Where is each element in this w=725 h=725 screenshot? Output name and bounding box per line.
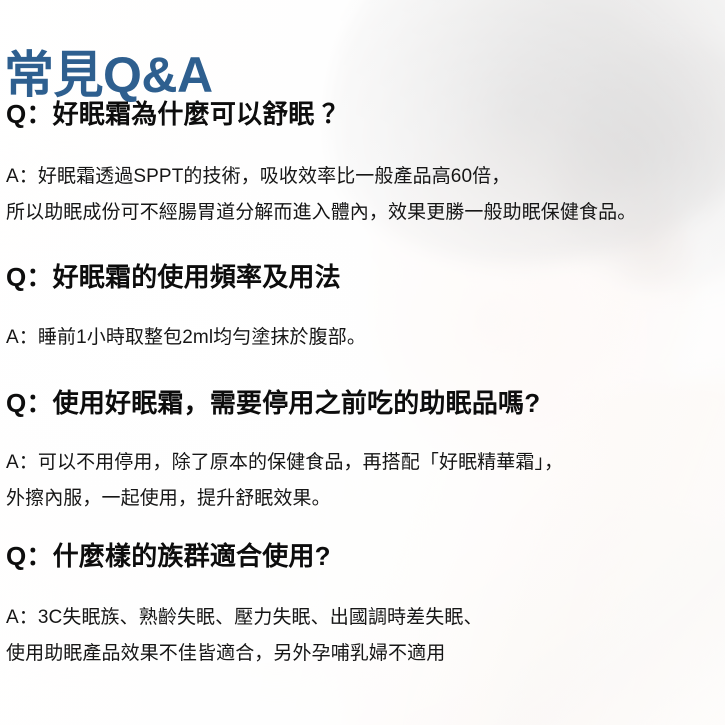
faq-answer-3: A：可以不用停用，除了原本的保健食品，再搭配「好眠精華霜」， 外擦內服，一起使用… <box>6 453 717 508</box>
faq-answer-line: A：好眠霜透過SPPT的技術，吸收效率比一般產品高60倍， <box>6 167 717 186</box>
faq-question-1: Q：好眠霜為什麼可以舒眠 ？ <box>6 99 717 131</box>
faq-answer-1: A：好眠霜透過SPPT的技術，吸收效率比一般產品高60倍， 所以助眠成份可不經腸… <box>6 167 717 222</box>
faq-answer-line: 使用助眠產品效果不佳皆適合，另外孕哺乳婦不適用 <box>6 644 717 663</box>
faq-item-1: Q：好眠霜為什麼可以舒眠 ？ A：好眠霜透過SPPT的技術，吸收效率比一般產品高… <box>6 99 717 222</box>
faq-answer-line: A：可以不用停用，除了原本的保健食品，再搭配「好眠精華霜」， <box>6 453 717 472</box>
faq-item-4: Q：什麼樣的族群適合使用? A：3C失眠族、熟齡失眠、壓力失眠、出國調時差失眠、… <box>6 541 717 663</box>
faq-answer-2: A：睡前1小時取整包2ml均勻塗抹於腹部。 <box>6 328 717 347</box>
faq-question-4: Q：什麼樣的族群適合使用? <box>6 541 717 573</box>
faq-question-3: Q：使用好眠霜，需要停用之前吃的助眠品嗎? <box>6 388 717 420</box>
faq-answer-line: A：3C失眠族、熟齡失眠、壓力失眠、出國調時差失眠、 <box>6 608 717 627</box>
faq-graphic: 常見Q&A Q：好眠霜為什麼可以舒眠 ？ A：好眠霜透過SPPT的技術，吸收效率… <box>0 0 725 725</box>
faq-question-2: Q：好眠霜的使用頻率及用法 <box>6 262 717 294</box>
faq-item-3: Q：使用好眠霜，需要停用之前吃的助眠品嗎? A：可以不用停用，除了原本的保健食品… <box>6 388 717 508</box>
faq-answer-line: A：睡前1小時取整包2ml均勻塗抹於腹部。 <box>6 328 717 347</box>
faq-item-2: Q：好眠霜的使用頻率及用法 A：睡前1小時取整包2ml均勻塗抹於腹部。 <box>6 262 717 347</box>
page-title: 常見Q&A <box>4 48 213 102</box>
faq-answer-line: 外擦內服，一起使用，提升舒眠效果。 <box>6 489 717 508</box>
faq-answer-4: A：3C失眠族、熟齡失眠、壓力失眠、出國調時差失眠、 使用助眠產品效果不佳皆適合… <box>6 608 717 663</box>
faq-answer-line: 所以助眠成份可不經腸胃道分解而進入體內，效果更勝一般助眠保健食品。 <box>6 203 717 222</box>
